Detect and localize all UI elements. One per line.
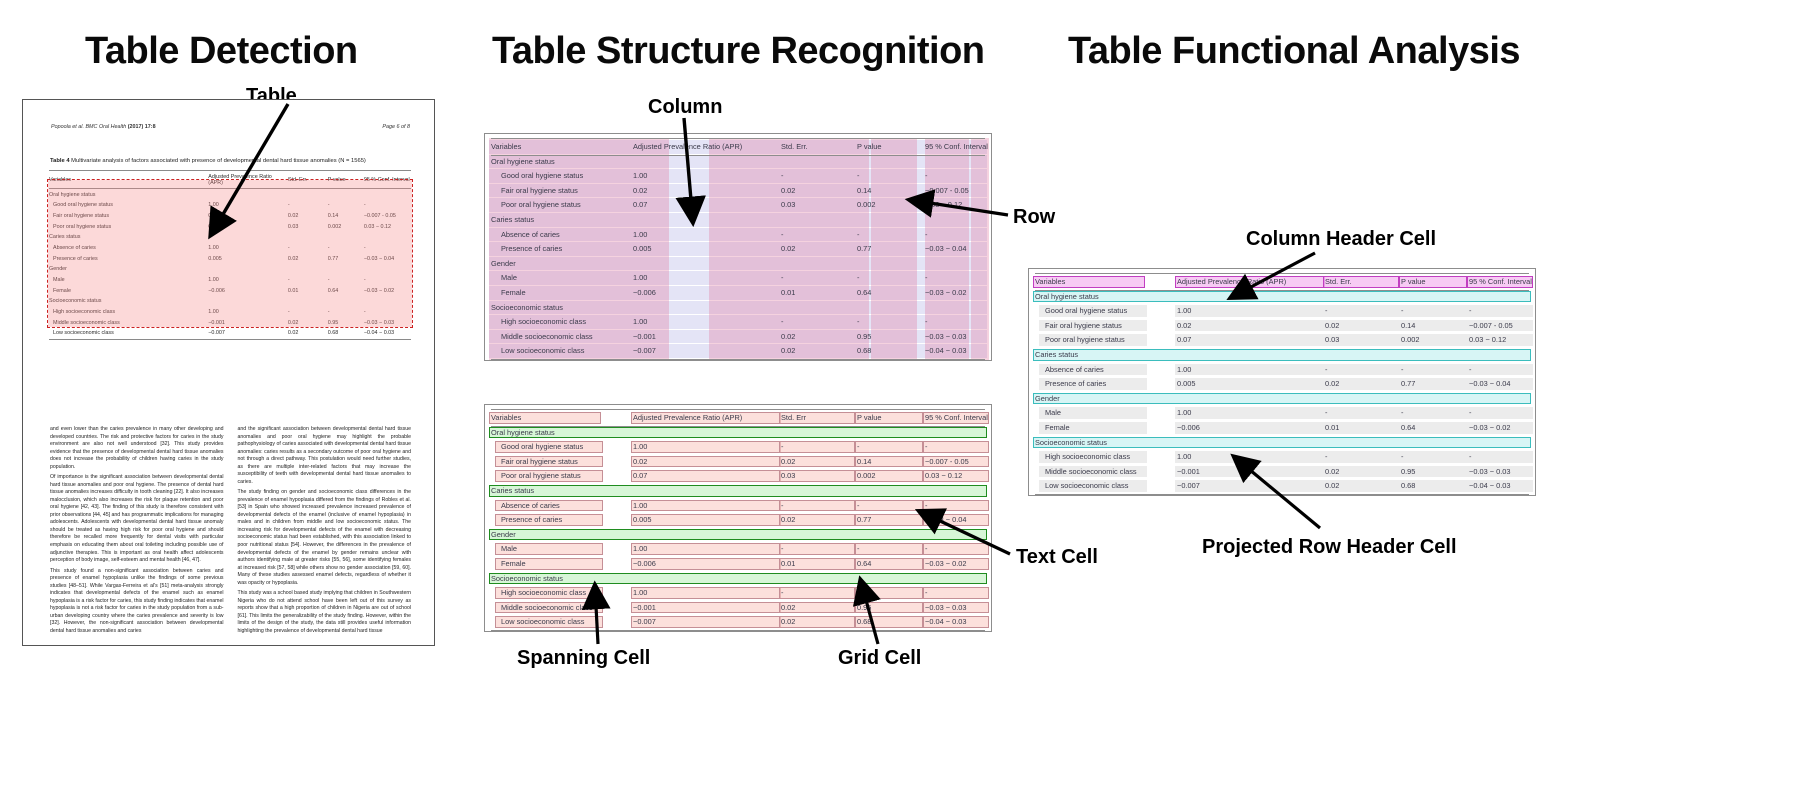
row-header-cell-label: Poor oral hygiene status — [501, 469, 651, 484]
grid-cell: −0.04 − 0.03 — [364, 328, 411, 339]
annotation-spanning-cell: Spanning Cell — [517, 647, 650, 670]
grid-cell-value: 1.00 — [633, 228, 799, 243]
row-header-cell-label: Female — [501, 557, 651, 572]
grid-cell-value: - — [1469, 450, 1551, 465]
grid-cell-value: 1.00 — [1177, 406, 1343, 421]
grid-cell-value: −0.03 − 0.02 — [925, 557, 1007, 572]
grid-cell-value: - — [1469, 363, 1551, 378]
grid-cell-value: −0.007 - 0.05 — [925, 184, 1007, 199]
grid-cell-value: - — [925, 440, 1007, 455]
row-header-cell-label: Male — [501, 542, 651, 557]
row-header-cell-label: Low socioeconomic class — [501, 615, 651, 630]
body-paragraph: Of importance is the significant associa… — [50, 474, 224, 564]
row-header-cell-label: Low socioeconomic class — [1045, 479, 1195, 494]
row-header-cell-label: Absence of caries — [1045, 363, 1195, 378]
section-row-label: Oral hygiene status — [1035, 290, 1335, 305]
grid-cell-value: 1.00 — [1177, 304, 1343, 319]
row-header-cell-label: Fair oral hygiene status — [501, 184, 651, 199]
row-header-cell-label: Poor oral hygiene status — [501, 198, 651, 213]
grid-cell-value: 1.00 — [633, 169, 799, 184]
table-functional-analysis-view: VariablesAdjusted Prevalence Ratio (APR)… — [1028, 268, 1536, 496]
grid-cell-value: 1.00 — [633, 499, 799, 514]
section-row-label: Oral hygiene status — [491, 426, 791, 441]
row-header-cell-label: Presence of caries — [501, 513, 651, 528]
grid-cell-value: - — [925, 542, 1007, 557]
section-row-label: Socioeconomic status — [491, 301, 791, 316]
row-header-cell-label: Female — [501, 286, 651, 301]
column-header-cell: 95 % Conf. Interval — [925, 411, 1027, 426]
grid-cell: −0.007 — [208, 328, 288, 339]
annotation-grid-cell: Grid Cell — [838, 647, 921, 670]
row-header-cell-label: High socioeconomic class — [1045, 450, 1195, 465]
body-paragraph: The study finding on gender and socioeco… — [238, 489, 412, 587]
grid-cell-value: 0.03 − 0.12 — [1469, 333, 1551, 348]
row-header-cell-label: Male — [501, 271, 651, 286]
row-header-cell-label: Presence of caries — [501, 242, 651, 257]
row-header-cell-label: High socioeconomic class — [501, 586, 651, 601]
grid-cell-value: - — [925, 499, 1007, 514]
table-detection-box — [48, 180, 412, 327]
grid-cell-value: −0.001 — [633, 601, 799, 616]
grid-cell-value: −0.03 − 0.04 — [925, 242, 1007, 257]
grid-cell-value: −0.007 — [633, 344, 799, 359]
grid-cell-value: −0.006 — [633, 286, 799, 301]
grid-cell-value: −0.007 — [1177, 479, 1343, 494]
row-header-cell-label: Good oral hygiene status — [1045, 304, 1195, 319]
grid-cell-value: 0.005 — [633, 513, 799, 528]
body-paragraph: This study was a school based study impl… — [238, 590, 412, 635]
grid-cell-value: 0.005 — [1177, 377, 1343, 392]
annotation-row: Row — [1013, 206, 1055, 229]
table-rule — [1035, 494, 1529, 495]
row-header-cell-label: Middle socioeconomic class — [1045, 465, 1195, 480]
grid-cell-value: - — [925, 169, 1007, 184]
section-row-label: Gender — [1035, 392, 1335, 407]
section-row-label: Oral hygiene status — [491, 155, 791, 170]
grid-cell-value: −0.03 − 0.03 — [925, 330, 1007, 345]
grid-cell-value: 0.02 — [1177, 319, 1343, 334]
row-header-cell-label: Male — [1045, 406, 1195, 421]
section-row-label: Caries status — [491, 213, 791, 228]
grid-cell-value: 1.00 — [1177, 450, 1343, 465]
grid-cell-value: −0.03 − 0.03 — [1469, 465, 1551, 480]
body-paragraph: This study found a non-significant assoc… — [50, 568, 224, 636]
column-header-cell: 95 % Conf. Interval — [1469, 275, 1571, 290]
grid-cell-value: 0.03 − 0.12 — [925, 198, 1007, 213]
row-header-cell-label: Good oral hygiene status — [501, 440, 651, 455]
body-paragraph: and even lower than the caries prevalenc… — [50, 426, 224, 471]
table-rule — [491, 409, 985, 410]
table-structure-cell-view: VariablesAdjusted Prevalence Ratio (APR)… — [484, 404, 992, 632]
grid-cell-value: - — [1469, 406, 1551, 421]
grid-cell-value: −0.007 — [633, 615, 799, 630]
document-running-head: Popoola et al. BMC Oral Health (2017) 17… — [51, 124, 410, 130]
annotation-projected-row-header-cell: Projected Row Header Cell — [1202, 536, 1457, 559]
row-header-cell-label: Middle socioeconomic class — [501, 330, 651, 345]
grid-cell-value: −0.04 − 0.03 — [925, 344, 1007, 359]
row-header-cell-label: Absence of caries — [501, 228, 651, 243]
grid-cell-value: −0.007 - 0.05 — [925, 455, 1007, 470]
row-header-cell-label: Fair oral hygiene status — [1045, 319, 1195, 334]
running-head-left: Popoola et al. BMC Oral Health — [51, 124, 126, 130]
grid-cell-value: 1.00 — [633, 586, 799, 601]
section-row-label: Gender — [491, 528, 791, 543]
grid-cell-value: 0.07 — [1177, 333, 1343, 348]
panel-title-table-detection: Table Detection — [85, 30, 358, 73]
grid-cell-value: 0.02 — [633, 455, 799, 470]
grid-cell-value: 1.00 — [1177, 363, 1343, 378]
grid-cell: 0.02 — [288, 328, 328, 339]
grid-cell-value: 1.00 — [633, 542, 799, 557]
document-right-column: and the significant association between … — [238, 426, 412, 638]
grid-cell-value: 0.07 — [633, 198, 799, 213]
grid-cell-value: - — [925, 271, 1007, 286]
document-body-columns: and even lower than the caries prevalenc… — [50, 426, 411, 638]
panel-title-table-structure-recognition: Table Structure Recognition — [492, 30, 985, 73]
document-page: Popoola et al. BMC Oral Health (2017) 17… — [22, 99, 435, 646]
grid-cell-value: −0.006 — [633, 557, 799, 572]
section-row-label: Caries status — [1035, 348, 1335, 363]
row-header-cell-label: Low socioeconomic class — [501, 344, 651, 359]
section-row-label: Socioeconomic status — [1035, 436, 1335, 451]
row-header-cell: Low socioeconomic class — [49, 328, 208, 339]
table-caption-label: Table 4 — [50, 158, 70, 164]
grid-cell-value: −0.04 − 0.03 — [1469, 479, 1551, 494]
grid-cell-value: - — [925, 586, 1007, 601]
row-header-cell-label: Female — [1045, 421, 1195, 436]
section-row-label: Socioeconomic status — [491, 572, 791, 587]
section-row-label: Caries status — [491, 484, 791, 499]
row-header-cell-label: High socioeconomic class — [501, 315, 651, 330]
document-left-column: and even lower than the caries prevalenc… — [50, 426, 224, 638]
panel-title-table-functional-analysis: Table Functional Analysis — [1068, 30, 1520, 73]
grid-cell-value: −0.006 — [1177, 421, 1343, 436]
grid-cell-value: - — [925, 228, 1007, 243]
grid-cell: 0.68 — [328, 328, 364, 339]
grid-cell-value: 0.07 — [633, 469, 799, 484]
table-row: Low socioeconomic class−0.0070.020.68−0.… — [49, 328, 411, 339]
body-paragraph: and the significant association between … — [238, 426, 412, 486]
grid-cell-value: −0.03 − 0.04 — [925, 513, 1007, 528]
grid-cell-value: 1.00 — [633, 315, 799, 330]
grid-cell-value: −0.04 − 0.03 — [925, 615, 1007, 630]
table-rule — [491, 630, 985, 631]
grid-cell-value: −0.001 — [1177, 465, 1343, 480]
grid-cell-value: - — [925, 315, 1007, 330]
table-rule — [491, 138, 985, 139]
grid-cell-value: −0.03 − 0.02 — [925, 286, 1007, 301]
grid-cell-value: 0.03 − 0.12 — [925, 469, 1007, 484]
row-header-cell-label: Absence of caries — [501, 499, 651, 514]
row-header-cell-label: Poor oral hygiene status — [1045, 333, 1195, 348]
grid-cell-value: 0.02 — [633, 184, 799, 199]
table-rule — [491, 359, 985, 360]
grid-cell-value: −0.03 − 0.04 — [1469, 377, 1551, 392]
row-header-cell-label: Presence of caries — [1045, 377, 1195, 392]
running-head-right: Page 6 of 8 — [382, 124, 410, 130]
grid-cell-value: - — [1469, 304, 1551, 319]
table-caption-text: Multivariate analysis of factors associa… — [71, 158, 366, 164]
table-structure-column-row-view: VariablesAdjusted Prevalence Ratio (APR)… — [484, 133, 992, 361]
row-header-cell-label: Fair oral hygiene status — [501, 455, 651, 470]
annotation-text-cell: Text Cell — [1016, 546, 1098, 569]
document-table-caption: Table 4 Multivariate analysis of factors… — [50, 158, 412, 166]
grid-cell-value: 0.005 — [633, 242, 799, 257]
annotation-column-header-cell: Column Header Cell — [1246, 228, 1436, 251]
grid-cell-value: −0.001 — [633, 330, 799, 345]
grid-cell-value: 1.00 — [633, 440, 799, 455]
annotation-column: Column — [648, 96, 722, 119]
table-rule — [1035, 273, 1529, 274]
row-header-cell-label: Middle socioeconomic class — [501, 601, 651, 616]
section-row-label: Gender — [491, 257, 791, 272]
grid-cell-value: −0.03 − 0.02 — [1469, 421, 1551, 436]
column-header-cell: 95 % Conf. Interval — [925, 140, 1027, 155]
grid-cell-value: −0.007 - 0.05 — [1469, 319, 1551, 334]
grid-cell-value: 1.00 — [633, 271, 799, 286]
running-head-left-cite: (2017) 17:8 — [128, 124, 156, 130]
grid-cell-value: −0.03 − 0.03 — [925, 601, 1007, 616]
row-header-cell-label: Good oral hygiene status — [501, 169, 651, 184]
